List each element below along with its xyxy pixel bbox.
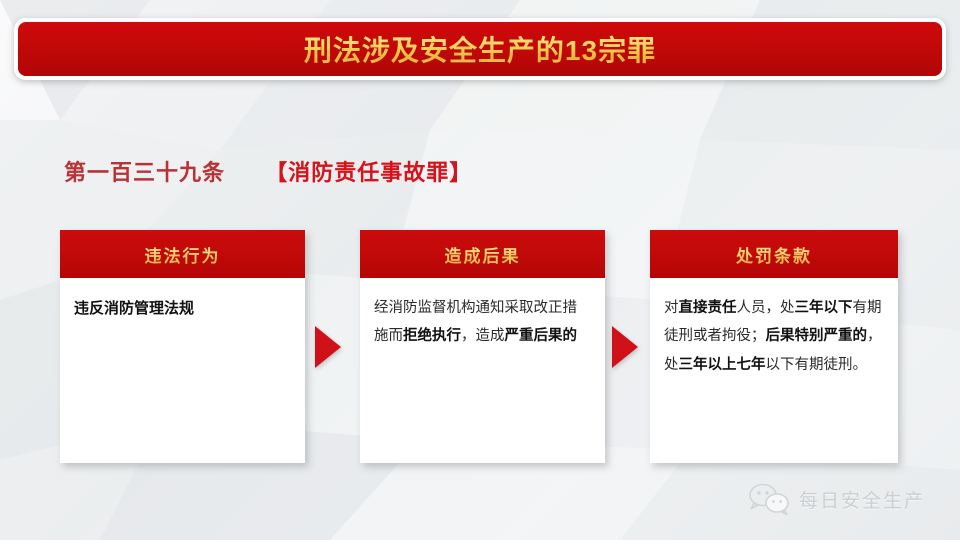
card-consequence[interactable]: 造成后果 经消防监督机构通知采取改正措施而拒绝执行，造成严重后果的 <box>360 230 605 463</box>
wechat-icon <box>748 483 790 515</box>
card-header-label: 处罚条款 <box>736 242 812 267</box>
title-banner: 刑法涉及安全生产的13宗罪 <box>14 18 946 80</box>
watermark: 每日安全生产 <box>748 483 925 515</box>
arrow-card0-to-card1 <box>315 326 341 368</box>
slide-canvas: 刑法涉及安全生产的13宗罪 第一百三十九条 【消防责任事故罪】 违法行为 违反消… <box>0 0 960 540</box>
card-penalty[interactable]: 处罚条款 对直接责任人员，处三年以下有期徒刑或者拘役；后果特别严重的，处三年以上… <box>650 230 898 463</box>
card-body-consequence: 经消防监督机构通知采取改正措施而拒绝执行，造成严重后果的 <box>360 278 605 463</box>
card-body-penalty: 对直接责任人员，处三年以下有期徒刑或者拘役；后果特别严重的，处三年以上七年以下有… <box>650 278 898 463</box>
watermark-label: 每日安全生产 <box>799 486 925 513</box>
cards-row: 违法行为 违反消防管理法规 造成后果 经消防监督机构通知采取改正措施而拒绝执行，… <box>0 230 960 470</box>
card-header-consequence: 造成后果 <box>360 230 605 278</box>
crime-name: 【消防责任事故罪】 <box>265 160 472 185</box>
page-title: 刑法涉及安全生产的13宗罪 <box>304 29 656 69</box>
arrow-card1-to-card2 <box>612 326 638 368</box>
card-header-penalty: 处罚条款 <box>650 230 898 278</box>
article-subtitle: 第一百三十九条 【消防责任事故罪】 <box>64 155 472 187</box>
card-header-label: 违法行为 <box>145 242 221 267</box>
card-illegal-act[interactable]: 违法行为 违反消防管理法规 <box>60 230 305 463</box>
article-number: 第一百三十九条 <box>64 160 225 185</box>
card-body-illegal-act: 违反消防管理法规 <box>60 278 305 463</box>
card-header-label: 造成后果 <box>445 242 521 267</box>
card-header-illegal-act: 违法行为 <box>60 230 305 278</box>
